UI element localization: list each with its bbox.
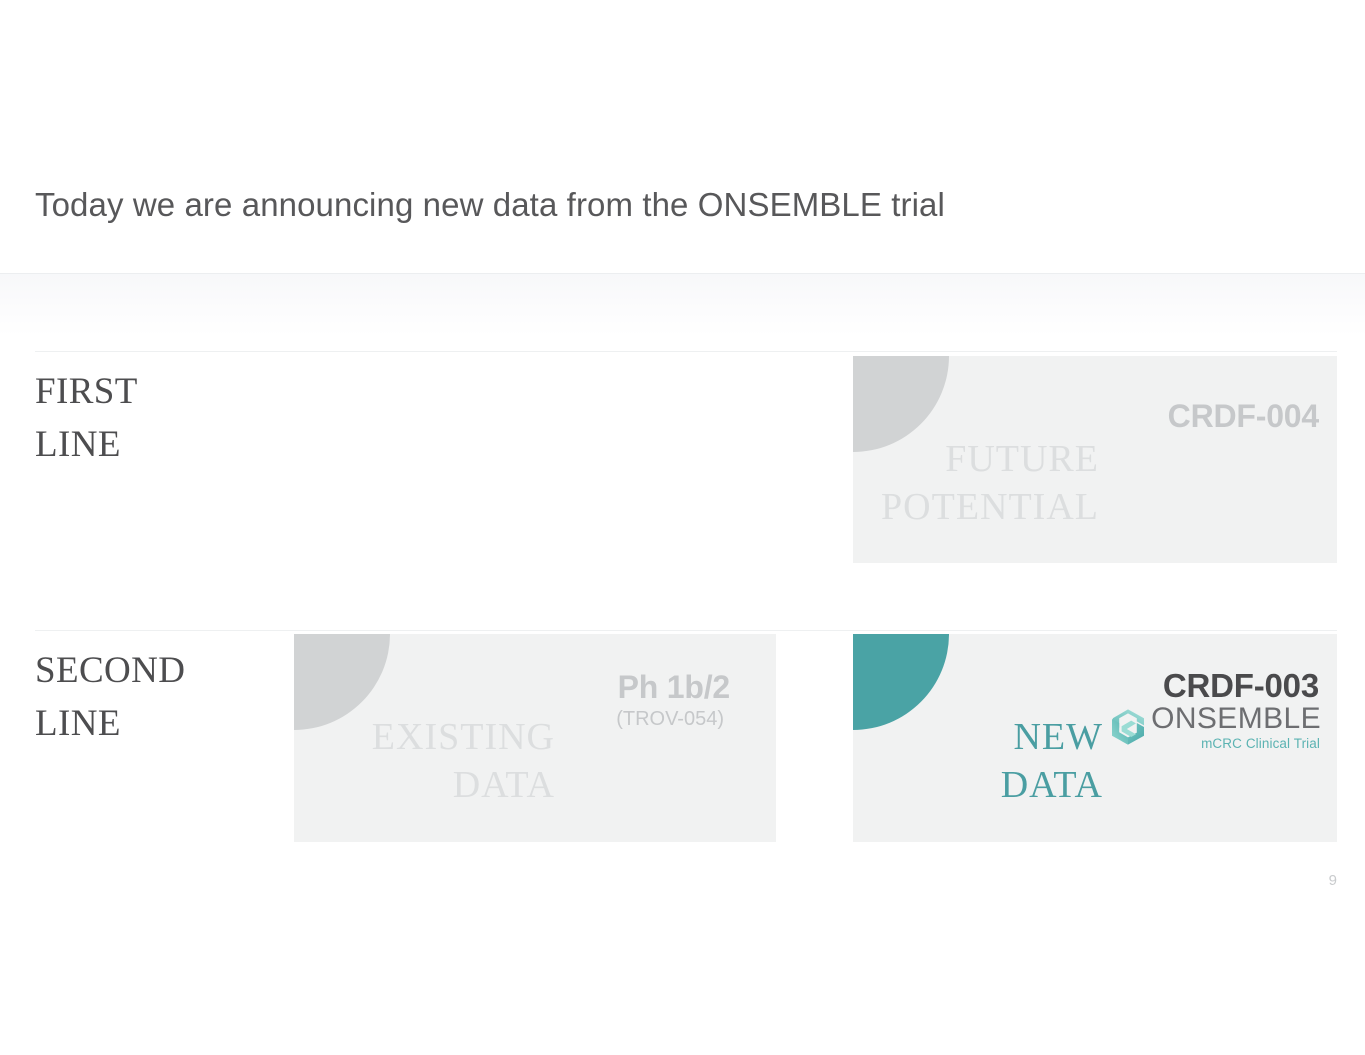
onsemble-logo-text: ONSEMBLE mCRC Clinical Trial bbox=[1151, 704, 1321, 751]
onsemble-logo: ONSEMBLE mCRC Clinical Trial bbox=[1108, 704, 1321, 751]
title-band: Today we are announcing new data from th… bbox=[0, 0, 1365, 273]
card-trov-054[interactable]: EXISTING DATA Ph 1b/2 (TROV-054) bbox=[294, 634, 776, 842]
card-crdf-003[interactable]: NEW DATA CRDF-003 bbox=[853, 634, 1337, 842]
onsemble-cube-icon bbox=[1108, 707, 1148, 747]
row-label-second-line: SECOND LINE bbox=[35, 644, 185, 750]
card-subcode-trov-054: (TROV-054) bbox=[616, 708, 724, 731]
row-second-line: SECOND LINE EXISTING DATA Ph 1b/2 (TROV-… bbox=[0, 630, 1365, 895]
slide-canvas: Today we are announcing new data from th… bbox=[0, 0, 1365, 1055]
row-label-first-line: FIRST LINE bbox=[35, 365, 138, 471]
title-divider-shadow bbox=[0, 274, 1365, 336]
card-watermark-new-data: NEW DATA bbox=[1001, 713, 1103, 809]
card-watermark-existing-data: EXISTING DATA bbox=[372, 713, 555, 809]
card-crdf-004[interactable]: FUTURE POTENTIAL CRDF-004 bbox=[853, 356, 1337, 563]
row-divider bbox=[35, 630, 1337, 631]
row-first-line: FIRST LINE FUTURE POTENTIAL CRDF-004 bbox=[0, 351, 1365, 616]
onsemble-tagline: mCRC Clinical Trial bbox=[1201, 737, 1320, 751]
card-code-ph-1b-2: Ph 1b/2 bbox=[618, 669, 730, 706]
card-code-crdf-003: CRDF-003 bbox=[1163, 667, 1319, 705]
page-title: Today we are announcing new data from th… bbox=[35, 186, 945, 224]
page-number: 9 bbox=[1329, 872, 1337, 889]
onsemble-wordmark: ONSEMBLE bbox=[1151, 704, 1321, 734]
card-watermark-future-potential: FUTURE POTENTIAL bbox=[881, 435, 1099, 531]
corner-wedge-icon bbox=[853, 634, 949, 730]
card-code-crdf-004: CRDF-004 bbox=[1168, 398, 1319, 435]
row-divider bbox=[35, 351, 1337, 352]
